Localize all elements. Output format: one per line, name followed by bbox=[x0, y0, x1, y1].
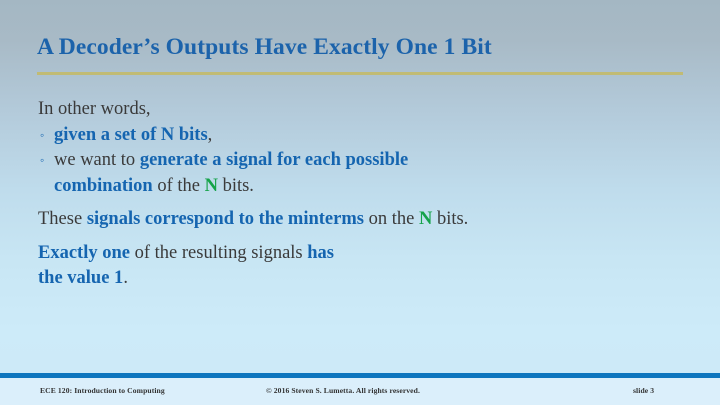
title-divider-rule bbox=[37, 72, 683, 75]
bullet-circle-icon: ◦ bbox=[40, 148, 44, 174]
footer-slide-number: slide 3 bbox=[633, 386, 654, 395]
bullet-2-mid-text: of the bbox=[153, 176, 205, 196]
paragraph-3-bold-text-1: Exactly one bbox=[38, 243, 130, 263]
body-lead-line: In other words, bbox=[38, 97, 508, 123]
presentation-slide: A Decoder’s Outputs Have Exactly One 1 B… bbox=[0, 0, 720, 405]
paragraph-2-bold-text: signals correspond to the minterms bbox=[87, 209, 364, 229]
list-item: ◦ given a set of N bits, bbox=[38, 123, 508, 149]
bullet-2-lead-text: we want to bbox=[54, 150, 140, 170]
footer-copyright-label: © 2016 Steven S. Lumetta. All rights res… bbox=[266, 386, 420, 395]
page-title: A Decoder’s Outputs Have Exactly One 1 B… bbox=[37, 32, 685, 62]
paragraph-2-mid-text: on the bbox=[364, 209, 419, 229]
bullet-2-tail-text: bits. bbox=[218, 176, 254, 196]
list-item: ◦ we want to generate a signal for each … bbox=[38, 148, 508, 199]
paragraph-minterms: These signals correspond to the minterms… bbox=[38, 207, 508, 233]
paragraph-spacer bbox=[38, 233, 508, 241]
footer-course-label: ECE 120: Introduction to Computing bbox=[40, 386, 165, 395]
bullet-1-trailing-punctuation: , bbox=[208, 125, 213, 145]
bullet-1-bold-text: given a set of N bits bbox=[54, 125, 208, 145]
paragraph-3-mid-text: of the resulting signals bbox=[130, 243, 307, 263]
bullet-2-green-n: N bbox=[205, 176, 218, 196]
bullet-circle-icon: ◦ bbox=[40, 123, 44, 149]
title-block: A Decoder’s Outputs Have Exactly One 1 B… bbox=[37, 32, 685, 62]
paragraph-exactly-one: Exactly one of the resulting signals has… bbox=[38, 241, 338, 292]
paragraph-3-tail-punctuation: . bbox=[123, 268, 128, 288]
paragraph-2-tail-text: bits. bbox=[432, 209, 468, 229]
slide-body: In other words, ◦ given a set of N bits,… bbox=[38, 97, 508, 292]
paragraph-spacer bbox=[38, 199, 508, 207]
paragraph-2-green-n: N bbox=[419, 209, 432, 229]
paragraph-2-lead-text: These bbox=[38, 209, 87, 229]
